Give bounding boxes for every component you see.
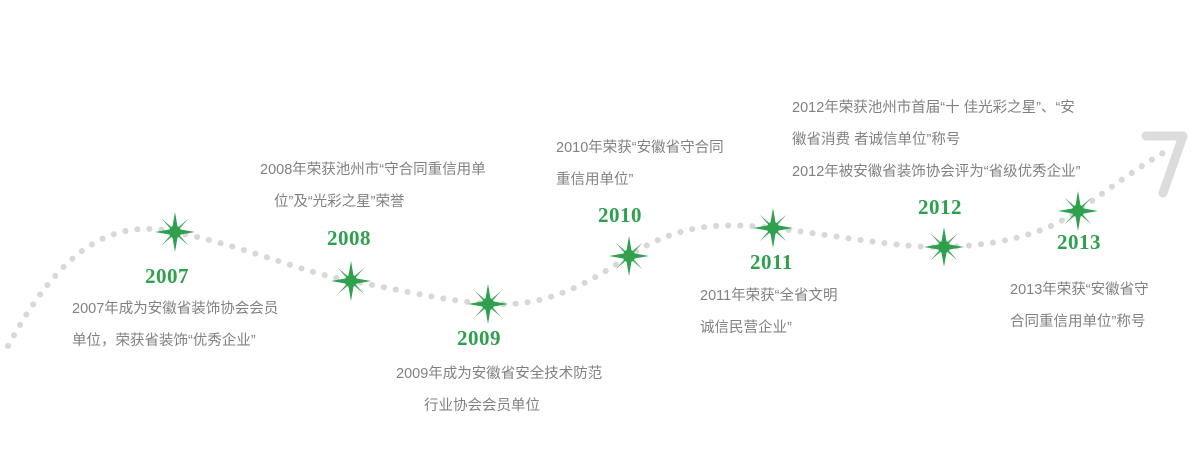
star-burst-icon-2011 <box>753 208 793 248</box>
star-burst-icon-2012 <box>924 227 964 267</box>
description-line: 2012年荣获池州市首届“十 佳光彩之星”、“安 <box>792 92 1080 124</box>
description-2013: 2013年荣获“安徽省守 合同重信用单位”称号 <box>1010 274 1149 338</box>
star-burst-icon-2013 <box>1058 191 1098 231</box>
description-2007: 2007年成为安徽省装饰协会会员 单位，荣获省装饰“优秀企业” <box>72 293 278 357</box>
description-line: 诚信民营企业” <box>700 312 838 344</box>
description-line: 2012年被安徽省装饰协会评为“省级优秀企业” <box>792 156 1080 188</box>
description-2009: 2009年成为安徽省安全技术防范 行业协会会员单位 <box>396 358 602 422</box>
description-line: 2007年成为安徽省装饰协会会员 <box>72 293 278 325</box>
description-line: 合同重信用单位”称号 <box>1010 306 1149 338</box>
description-line: 单位，荣获省装饰“优秀企业” <box>72 325 278 357</box>
star-burst-icon-2010 <box>609 236 649 276</box>
chevron-arrow-icon <box>1146 136 1183 193</box>
description-2010: 2010年荣获“安徽省守合同 重信用单位” <box>556 132 724 196</box>
timeline-infographic: 2007 2007年成为安徽省装饰协会会员 单位，荣获省装饰“优秀企业” 200… <box>0 0 1200 465</box>
year-label-2012: 2012 <box>918 197 962 218</box>
description-line: 徽省消费 者诚信单位”称号 <box>792 124 1080 156</box>
description-line: 2008年荣获池州市“守合同重信用单 <box>260 154 486 186</box>
description-line: 2013年荣获“安徽省守 <box>1010 274 1149 306</box>
star-burst-icon-2009 <box>468 284 508 324</box>
year-label-2007: 2007 <box>145 266 189 287</box>
year-label-2008: 2008 <box>327 228 371 249</box>
description-line: 2009年成为安徽省安全技术防范 <box>396 358 602 390</box>
description-line: 重信用单位” <box>556 164 724 196</box>
description-2012: 2012年荣获池州市首届“十 佳光彩之星”、“安 徽省消费 者诚信单位”称号 2… <box>792 92 1080 188</box>
description-line: 位”及“光彩之星”荣誉 <box>260 186 486 218</box>
description-2008: 2008年荣获池州市“守合同重信用单 位”及“光彩之星”荣誉 <box>260 154 486 218</box>
description-2011: 2011年荣获“全省文明 诚信民营企业” <box>700 280 838 344</box>
description-line: 2011年荣获“全省文明 <box>700 280 838 312</box>
star-burst-icon-2007 <box>155 212 195 252</box>
year-label-2013: 2013 <box>1057 232 1101 253</box>
description-line: 2010年荣获“安徽省守合同 <box>556 132 724 164</box>
description-line: 行业协会会员单位 <box>396 390 602 422</box>
year-label-2011: 2011 <box>750 252 793 273</box>
year-label-2010: 2010 <box>598 205 642 226</box>
star-burst-icon-2008 <box>331 261 371 301</box>
year-label-2009: 2009 <box>457 328 501 349</box>
